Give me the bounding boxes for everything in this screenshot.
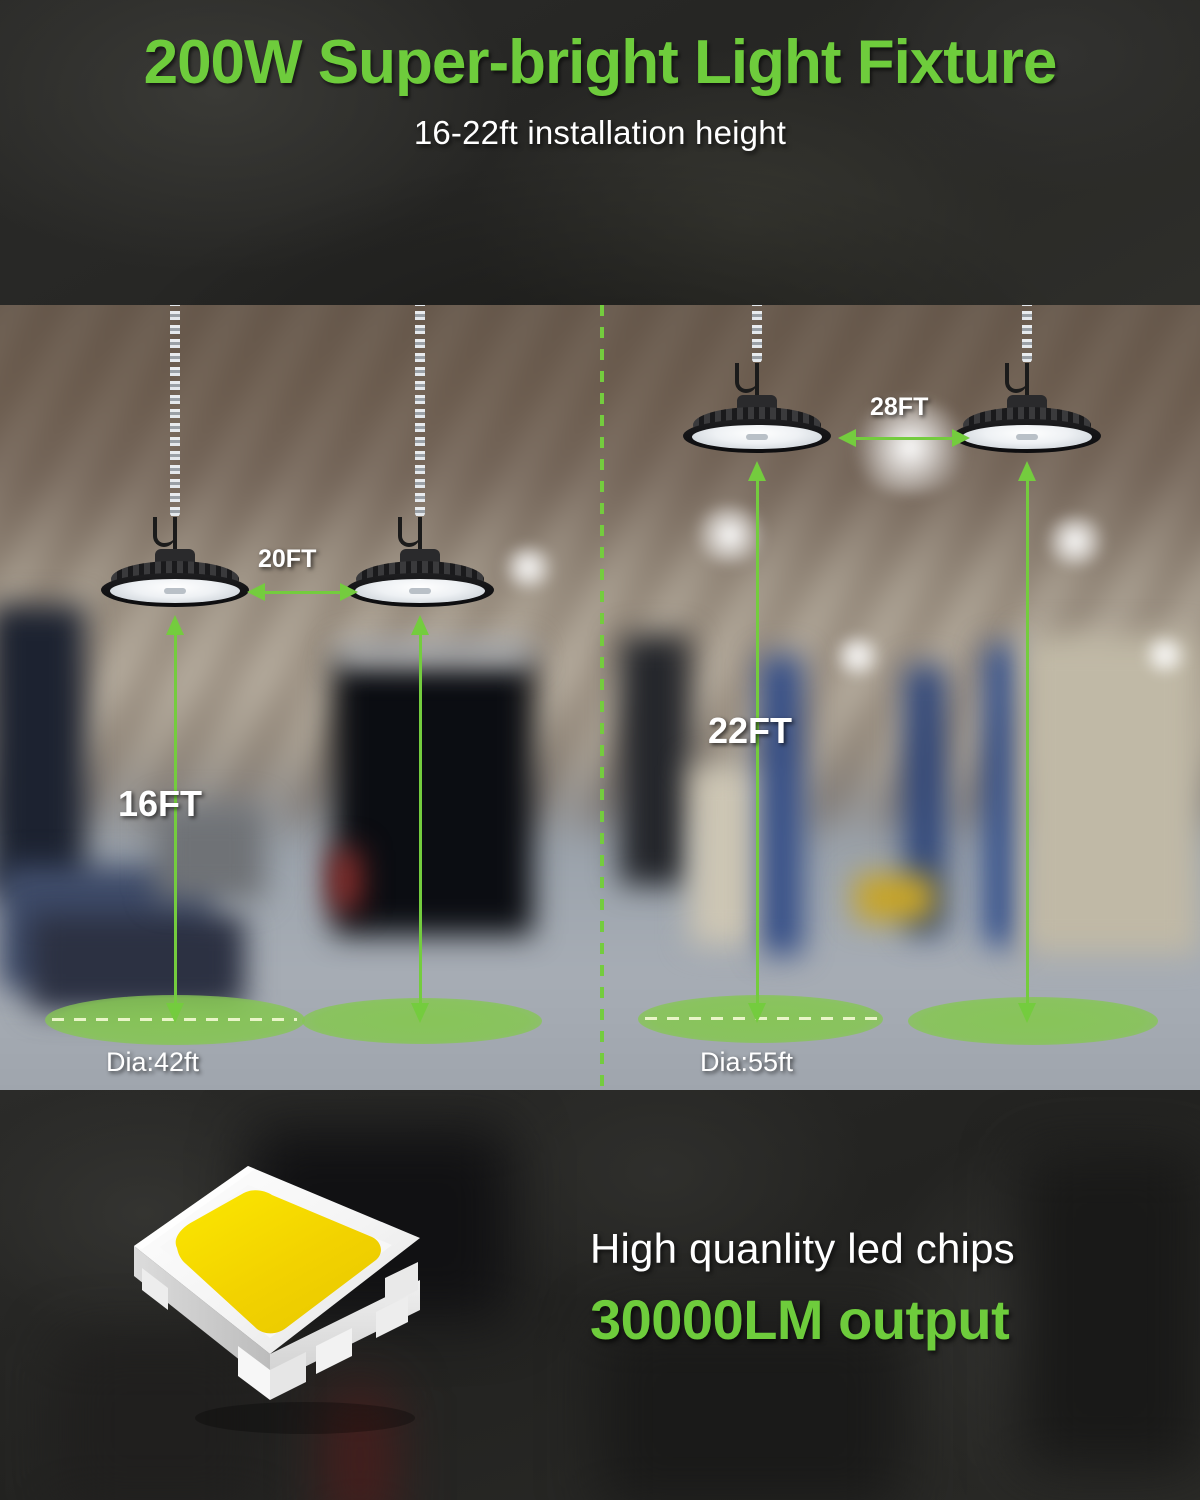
ceiling-light-glow <box>1140 635 1190 675</box>
high-bay-fixture <box>692 305 822 465</box>
hanging-chain <box>170 305 180 517</box>
background-object <box>985 645 1021 945</box>
page-title: 200W Super-bright Light Fixture <box>0 30 1200 96</box>
height-line <box>1026 479 1029 1005</box>
product-infographic: 200W Super-bright Light Fixture 16-22ft … <box>0 0 1200 1500</box>
diameter-label-left: Dia:42ft <box>106 1047 199 1078</box>
spacing-line <box>258 591 348 594</box>
background-object <box>338 643 533 665</box>
section-divider <box>600 305 604 1090</box>
chain-hook-icon <box>735 363 757 393</box>
height-label-left: 16FT <box>118 783 202 825</box>
hanging-chain <box>415 305 425 517</box>
lumen-output-label: 30000LM output <box>590 1287 1015 1352</box>
lens-center-marker <box>746 434 768 440</box>
chain-hook-icon <box>153 517 175 547</box>
led-chip-illustration <box>120 1150 480 1450</box>
lens-center-marker <box>164 588 186 594</box>
diameter-label-right: Dia:55ft <box>700 1047 793 1078</box>
led-chip-icon <box>120 1150 480 1450</box>
background-object <box>760 655 802 955</box>
led-chip-text-block: High quanlity led chips 30000LM output <box>590 1225 1015 1352</box>
chain-hook-icon <box>398 517 420 547</box>
spacing-label-right: 28FT <box>870 393 928 422</box>
spacing-arrow-right <box>340 583 358 601</box>
background-object <box>0 605 85 895</box>
hanging-chain <box>1022 305 1032 363</box>
height-arrow-top <box>411 615 429 635</box>
spacing-label-left: 20FT <box>258 545 316 574</box>
page-subtitle: 16-22ft installation height <box>0 114 1200 152</box>
installation-diagram: 20FT 16FT Dia:42ft <box>0 305 1200 1090</box>
background-object <box>1020 635 1200 955</box>
height-line <box>419 633 422 1005</box>
height-arrow-bottom <box>1018 1003 1036 1023</box>
lens-center-marker <box>1016 434 1038 440</box>
lens-center-marker <box>409 588 431 594</box>
header-banner: 200W Super-bright Light Fixture 16-22ft … <box>0 0 1200 305</box>
height-arrow-bottom <box>748 1003 766 1023</box>
height-arrow-top <box>166 615 184 635</box>
background-object <box>333 655 533 935</box>
height-arrow-bottom <box>166 1003 184 1023</box>
ceiling-light-glow <box>830 635 885 677</box>
high-bay-fixture <box>110 305 240 605</box>
ceiling-light-glow <box>1040 515 1110 567</box>
led-chip-headline: High quanlity led chips <box>590 1225 1015 1273</box>
hanging-chain <box>752 305 762 363</box>
height-arrow-bottom <box>411 1003 429 1023</box>
height-label-right: 22FT <box>708 710 792 752</box>
high-bay-fixture <box>355 305 485 605</box>
ceiling-light-glow <box>498 545 558 590</box>
high-bay-fixture <box>962 305 1092 465</box>
spacing-line <box>850 437 960 440</box>
background-object <box>620 635 690 885</box>
background-object <box>330 850 360 910</box>
spacing-arrow-right <box>952 429 970 447</box>
background-object <box>1020 1150 1200 1470</box>
chain-hook-icon <box>1005 363 1027 393</box>
background-object <box>855 875 935 921</box>
